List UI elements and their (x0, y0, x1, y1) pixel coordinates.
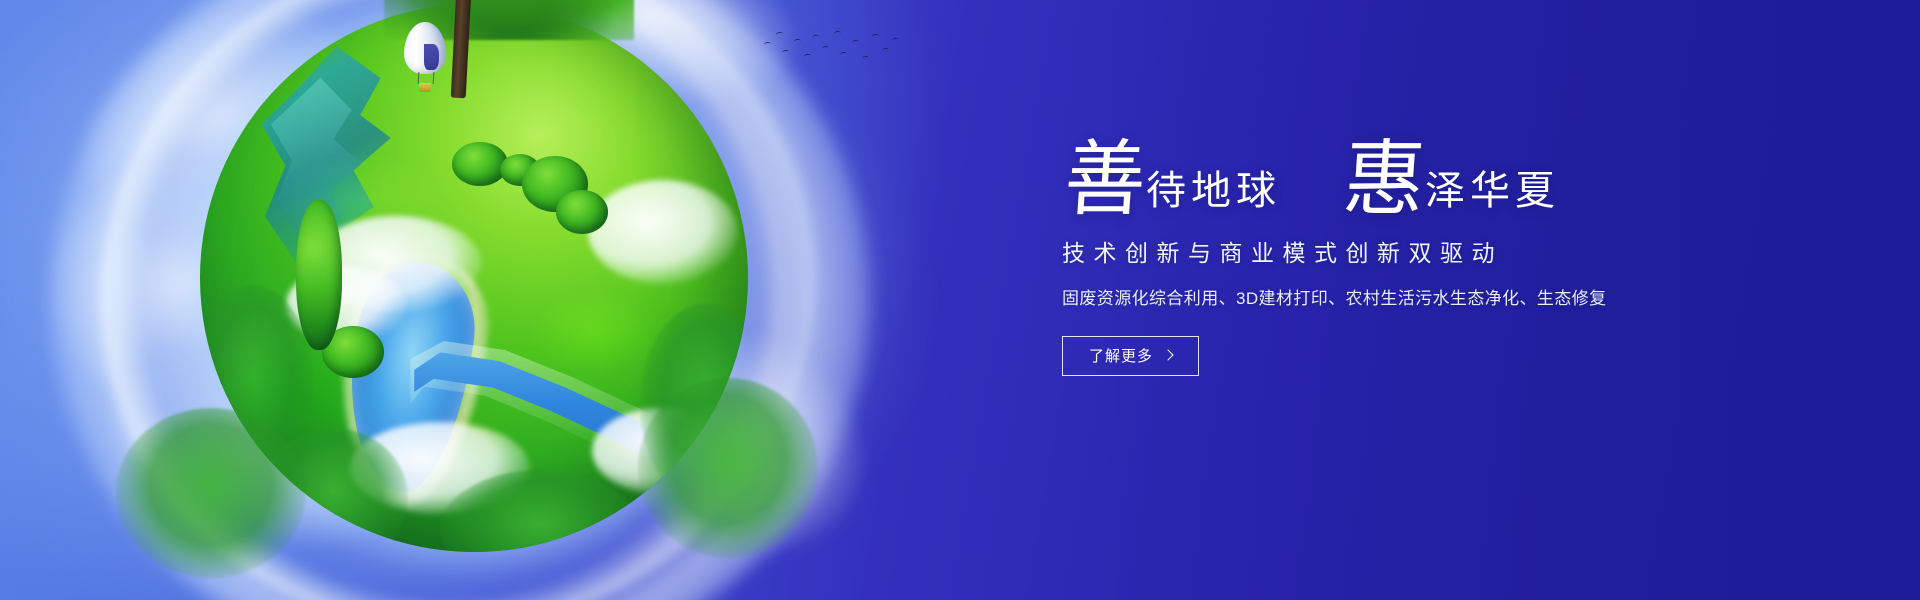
headline-text-daidiqiu: 待地球 (1146, 171, 1281, 218)
hero-content: 善 待地球 惠 泽华夏 技术创新与商业模式创新双驱动 固废资源化综合利用、3D建… (1062, 126, 1762, 376)
headline: 善 待地球 惠 泽华夏 (1062, 126, 1762, 218)
hero-description: 固废资源化综合利用、3D建材打印、农村生活污水生态净化、生态修复 (1062, 288, 1762, 310)
learn-more-button[interactable]: 了解更多 (1062, 336, 1199, 376)
headline-char-hui: 惠 (1341, 142, 1434, 218)
hero-subtitle: 技术创新与商业模式创新双驱动 (1062, 240, 1762, 268)
headline-char-shan: 善 (1062, 142, 1155, 218)
hero-banner: 善 待地球 惠 泽华夏 技术创新与商业模式创新双驱动 固废资源化综合利用、3D建… (0, 0, 1920, 600)
headline-text-zehuaxia: 泽华夏 (1425, 171, 1560, 218)
chevron-right-icon (1162, 350, 1173, 361)
learn-more-label: 了解更多 (1089, 345, 1153, 366)
